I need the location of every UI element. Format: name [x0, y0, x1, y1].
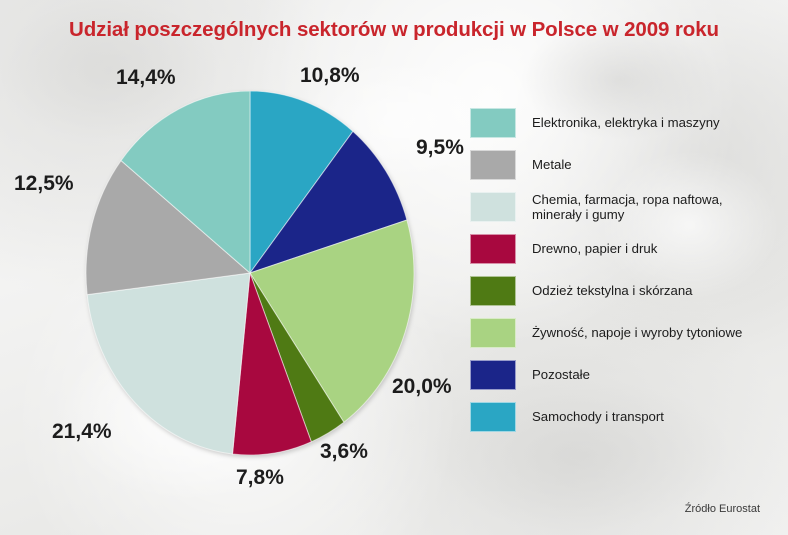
legend-swatch: [470, 402, 516, 432]
legend-item-label: Elektronika, elektryka i maszyny: [532, 108, 720, 130]
legend-item[interactable]: Samochody i transport: [470, 402, 780, 432]
pie-percentage-label: 21,4%: [52, 420, 112, 444]
legend-item-label: Żywność, napoje i wyroby tytoniowe: [532, 318, 742, 340]
legend-item-label: Pozostałe: [532, 360, 590, 382]
pie-percentage-label: 7,8%: [236, 466, 284, 490]
pie-percentage-label: 3,6%: [320, 440, 368, 464]
pie-svg: [85, 91, 415, 455]
pie-percentage-label: 20,0%: [392, 375, 452, 399]
legend-item[interactable]: Pozostałe: [470, 360, 780, 390]
legend-item-label: Metale: [532, 150, 572, 172]
legend-swatch: [470, 192, 516, 222]
pie-slice-group: [86, 91, 414, 455]
pie-chart: [85, 91, 415, 455]
legend-swatch: [470, 108, 516, 138]
pie-percentage-label: 12,5%: [14, 172, 74, 196]
chart-canvas: Udział poszczególnych sektorów w produkc…: [0, 0, 788, 535]
legend-item[interactable]: Drewno, papier i druk: [470, 234, 780, 264]
legend-item[interactable]: Odzież tekstylna i skórzana: [470, 276, 780, 306]
legend-item[interactable]: Metale: [470, 150, 780, 180]
pie-percentage-label: 9,5%: [416, 136, 464, 160]
pie-percentage-label: 10,8%: [300, 64, 360, 88]
legend-item-label: Chemia, farmacja, ropa naftowa, minerały…: [532, 192, 723, 222]
legend-swatch: [470, 234, 516, 264]
source-note: Źródło Eurostat: [685, 503, 760, 515]
legend-item-label: Drewno, papier i druk: [532, 234, 657, 256]
legend-swatch: [470, 150, 516, 180]
legend-swatch: [470, 360, 516, 390]
chart-legend: Elektronika, elektryka i maszynyMetaleCh…: [470, 108, 780, 444]
legend-item[interactable]: Żywność, napoje i wyroby tytoniowe: [470, 318, 780, 348]
legend-item-label: Odzież tekstylna i skórzana: [532, 276, 693, 298]
legend-swatch: [470, 276, 516, 306]
legend-swatch: [470, 318, 516, 348]
pie-percentage-label: 14,4%: [116, 66, 176, 90]
chart-title: Udział poszczególnych sektorów w produkc…: [0, 18, 788, 42]
legend-item-label: Samochody i transport: [532, 402, 664, 424]
legend-item[interactable]: Elektronika, elektryka i maszyny: [470, 108, 780, 138]
legend-item[interactable]: Chemia, farmacja, ropa naftowa, minerały…: [470, 192, 780, 222]
